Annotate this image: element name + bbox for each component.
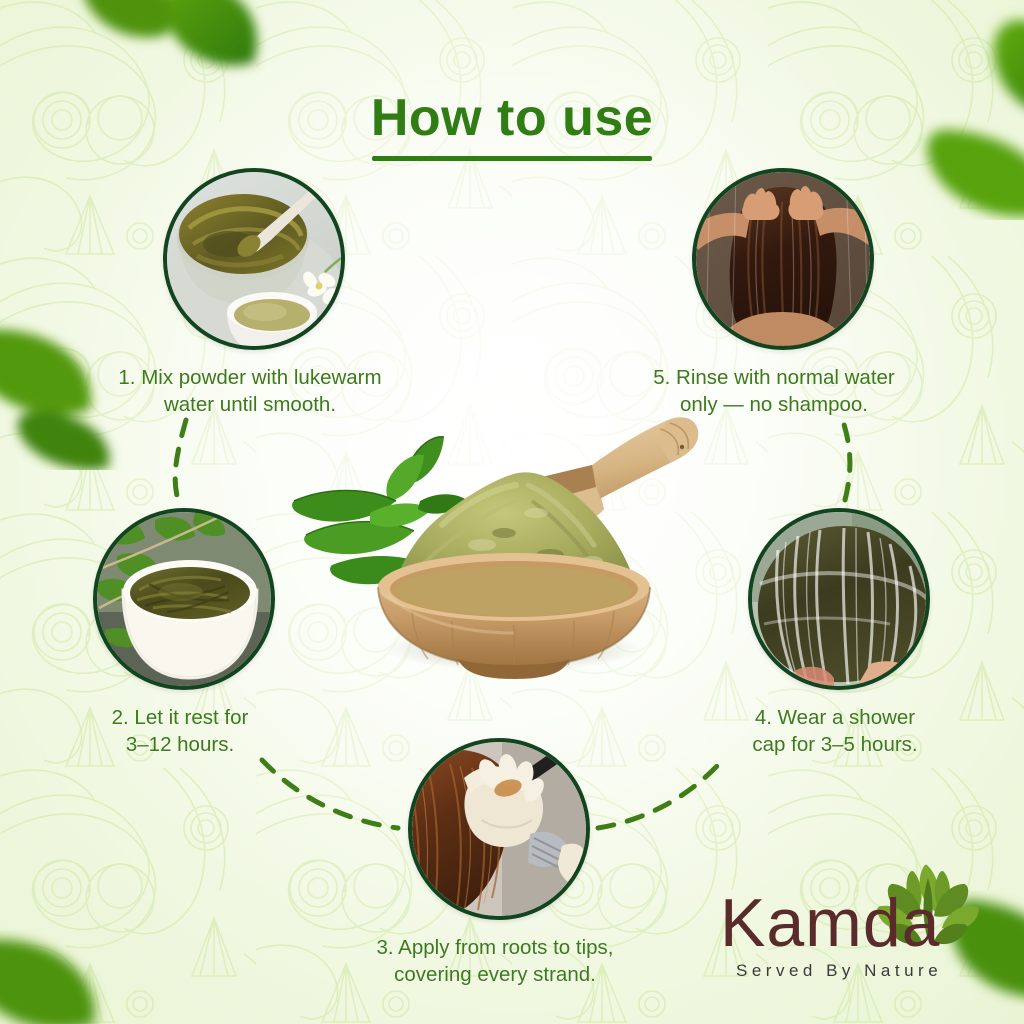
title-underline bbox=[372, 156, 652, 161]
brand-wordmark: Kamda bbox=[720, 885, 940, 961]
title-block: How to use bbox=[0, 92, 1024, 161]
leaf-decoration-bottom-left bbox=[0, 900, 150, 1024]
step-4-caption: 4. Wear a shower cap for 3–5 hours. bbox=[670, 704, 1000, 758]
step-4: 4. Wear a shower cap for 3–5 hours. bbox=[748, 508, 1000, 758]
hero-henna-bowl bbox=[292, 405, 732, 680]
step-1: 1. Mix powder with lukewarm water until … bbox=[163, 168, 415, 418]
step-5-image bbox=[692, 168, 874, 350]
connector-5-to-4 bbox=[842, 418, 850, 500]
step-4-image bbox=[748, 508, 930, 690]
brand-tagline: Served By Nature bbox=[736, 961, 942, 980]
step-1-image bbox=[163, 168, 345, 350]
step-2-image bbox=[93, 508, 275, 690]
page-title: How to use bbox=[371, 92, 653, 144]
step-3: 3. Apply from roots to tips, covering ev… bbox=[408, 738, 660, 988]
step-3-image bbox=[408, 738, 590, 920]
infographic-canvas: 1. Mix powder with lukewarm water until … bbox=[0, 0, 1024, 1024]
step-5: 5. Rinse with normal water only — no sha… bbox=[692, 168, 934, 418]
connector-1-to-2 bbox=[175, 420, 186, 500]
connector-2-to-3 bbox=[262, 760, 398, 828]
step-3-caption: 3. Apply from roots to tips, covering ev… bbox=[330, 934, 660, 988]
brand-logo: Kamda Served By Nature bbox=[718, 862, 998, 990]
step-2-caption: 2. Let it rest for 3–12 hours. bbox=[15, 704, 345, 758]
